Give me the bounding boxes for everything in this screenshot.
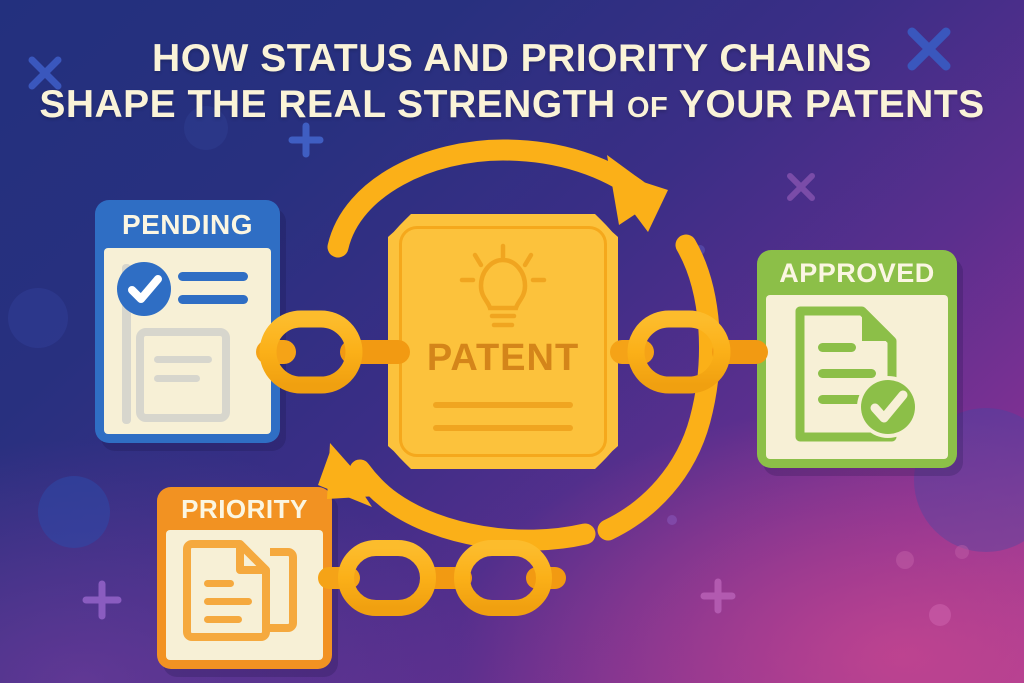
title-line-2-of: OF bbox=[627, 92, 668, 124]
stacked-documents-icon bbox=[166, 530, 323, 654]
deco-circle bbox=[667, 515, 677, 525]
chain-patent-to-approved bbox=[610, 319, 768, 385]
plus-mark-icon bbox=[86, 584, 118, 616]
title-line-2-part-a: SHAPE THE REAL STRENGTH bbox=[39, 83, 627, 126]
page-title: HOW STATUS AND PRIORITY CHAINS SHAPE THE… bbox=[0, 36, 1024, 128]
card-label-priority: PRIORITY bbox=[157, 487, 332, 530]
title-line-2-part-b: YOUR PATENTS bbox=[668, 83, 984, 126]
card-body-priority bbox=[166, 530, 323, 660]
infographic-canvas: HOW STATUS AND PRIORITY CHAINS SHAPE THE… bbox=[0, 0, 1024, 683]
deco-circle bbox=[8, 288, 68, 348]
plus-mark-icon bbox=[704, 582, 732, 610]
title-line-1: HOW STATUS AND PRIORITY CHAINS bbox=[0, 36, 1024, 82]
x-mark-icon bbox=[790, 176, 812, 198]
deco-circle bbox=[695, 245, 705, 255]
certificate-line bbox=[433, 425, 573, 431]
status-card-pending[interactable]: PENDING bbox=[95, 200, 280, 443]
document-with-check-icon bbox=[104, 248, 271, 434]
card-label-pending: PENDING bbox=[95, 200, 280, 248]
status-card-priority[interactable]: PRIORITY bbox=[157, 487, 332, 669]
card-body-approved bbox=[766, 295, 948, 459]
certificate-title: PATENT bbox=[388, 337, 618, 380]
arrow-right-arc bbox=[608, 245, 709, 530]
plus-mark-icon bbox=[292, 126, 320, 154]
deco-circle bbox=[929, 604, 951, 626]
deco-circle bbox=[955, 545, 969, 559]
lightbulb-icon bbox=[388, 232, 618, 342]
patent-certificate[interactable]: PATENT bbox=[388, 214, 618, 469]
certificate-line bbox=[433, 402, 573, 408]
status-card-approved[interactable]: APPROVED bbox=[757, 250, 957, 468]
card-body-pending bbox=[104, 248, 271, 434]
card-label-approved: APPROVED bbox=[757, 250, 957, 295]
title-line-2: SHAPE THE REAL STRENGTH OF YOUR PATENTS bbox=[0, 82, 1024, 128]
deco-circle bbox=[896, 551, 914, 569]
document-approved-badge-icon bbox=[766, 295, 948, 453]
deco-circle bbox=[38, 476, 110, 548]
chain-priority-to-patent bbox=[318, 548, 566, 608]
